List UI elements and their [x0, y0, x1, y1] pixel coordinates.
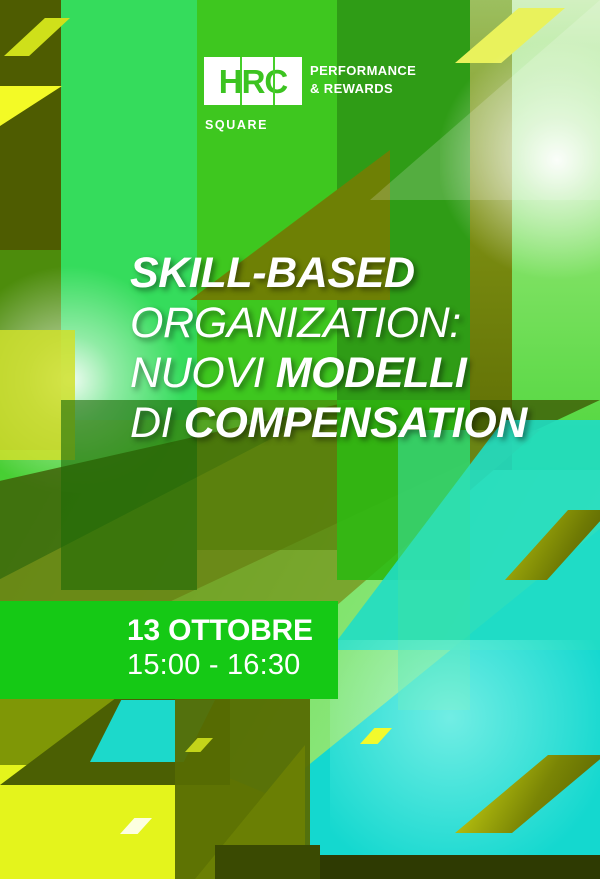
headline-line-4: DI COMPENSATION: [130, 398, 580, 448]
logo-divider-2: [273, 57, 275, 105]
logo-tagline: PERFORMANCE & REWARDS: [310, 62, 416, 97]
bg-corner-dark-bottomleft: [215, 845, 320, 879]
headline-line-3: NUOVI MODELLI: [130, 348, 580, 398]
event-date-block: 13 OTTOBRE 15:00 - 16:30: [0, 601, 338, 699]
logo-mark-text: HRC: [219, 65, 288, 98]
event-poster: HRC SQUARE PERFORMANCE & REWARDS SKILL-B…: [0, 0, 600, 879]
logo-subtitle: SQUARE: [205, 118, 268, 132]
event-date: 13 OTTOBRE: [127, 614, 313, 648]
headline-line-2: ORGANIZATION:: [130, 298, 580, 348]
headline-line-3-bold: MODELLI: [276, 349, 467, 397]
brand-logo: HRC SQUARE PERFORMANCE & REWARDS: [204, 57, 434, 147]
logo-mark-box: HRC: [204, 57, 302, 105]
bg-corner-dark-bottomright: [310, 855, 600, 879]
headline-line-2-light: ORGANIZATION:: [130, 299, 461, 347]
headline-line-3-light: NUOVI: [130, 349, 276, 397]
poster-headline: SKILL-BASED ORGANIZATION: NUOVI MODELLI …: [130, 248, 580, 448]
logo-tagline-line-1: PERFORMANCE: [310, 62, 416, 80]
logo-divider-1: [240, 57, 242, 105]
logo-tagline-line-2: & REWARDS: [310, 80, 416, 98]
event-time: 15:00 - 16:30: [127, 649, 301, 682]
headline-line-4-light: DI: [130, 399, 184, 447]
headline-line-1: SKILL-BASED: [130, 248, 580, 298]
headline-line-1-bold: SKILL-BASED: [130, 249, 415, 297]
headline-line-4-bold: COMPENSATION: [184, 399, 527, 447]
